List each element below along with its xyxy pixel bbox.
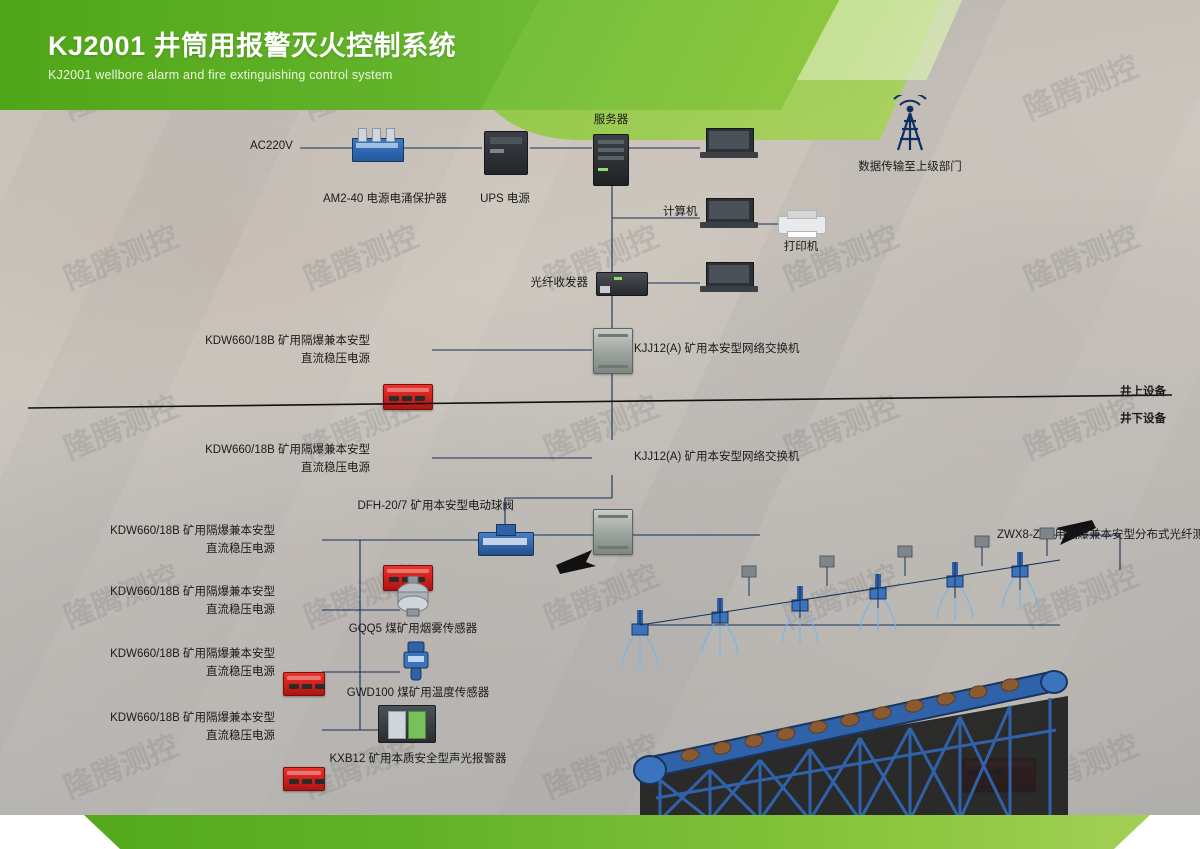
conveyor-belt-illustration (620, 630, 1090, 830)
footer-band (0, 815, 1200, 849)
diagram-canvas: 隆腾测控 隆腾测控 隆腾测控 隆腾测控 隆腾测控 隆腾测控 隆腾测控 隆腾测控 … (0, 0, 1200, 849)
